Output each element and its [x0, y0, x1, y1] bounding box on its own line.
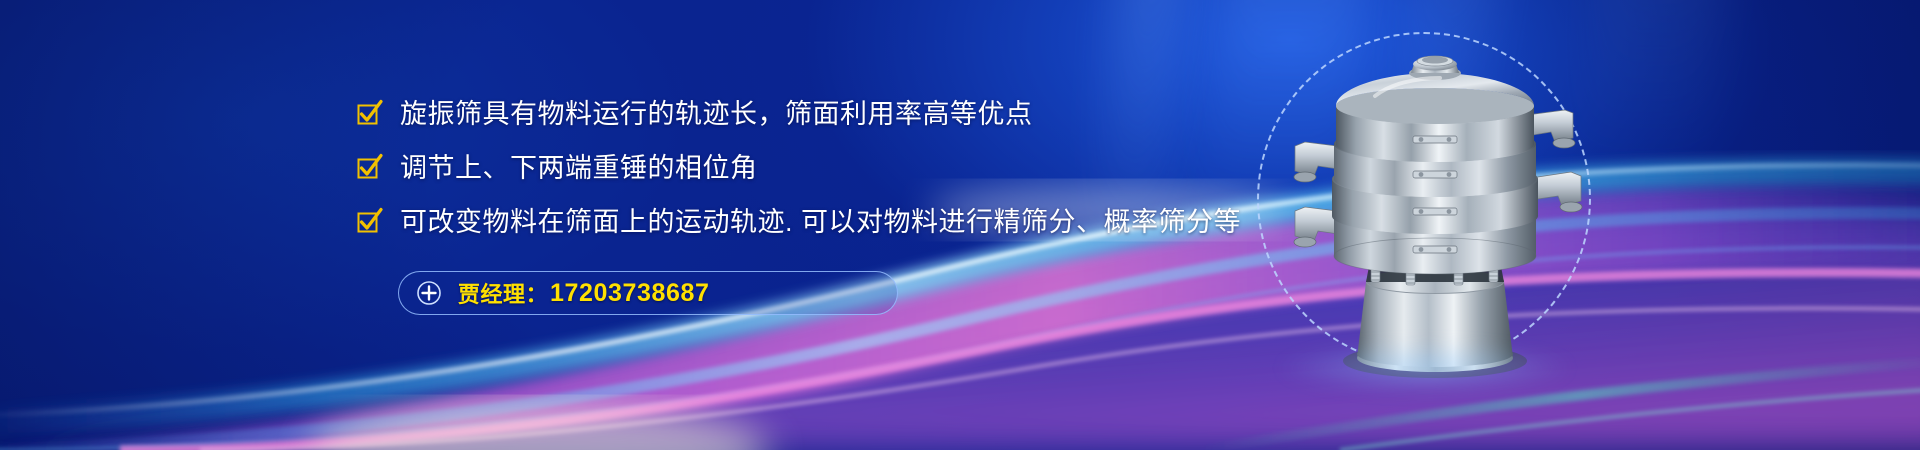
- checkbox-checked-icon: [355, 153, 383, 181]
- list-item: 可改变物料在筛面上的运动轨迹. 可以对物料进行精筛分、概率筛分等: [355, 208, 1255, 236]
- plus-circle-icon: [416, 280, 442, 306]
- list-item-label: 旋振筛具有物料运行的轨迹长，筛面利用率高等优点: [400, 101, 1033, 128]
- promo-banner: 旋振筛具有物料运行的轨迹长，筛面利用率高等优点 调节上、下两端重锤的相位角 可改…: [0, 0, 1920, 450]
- list-item-label: 调节上、下两端重锤的相位角: [400, 155, 758, 182]
- list-item: 调节上、下两端重锤的相位角: [355, 154, 1255, 182]
- list-item-label: 可改变物料在筛面上的运动轨迹. 可以对物料进行精筛分、概率筛分等: [400, 209, 1241, 236]
- list-item: 旋振筛具有物料运行的轨迹长，筛面利用率高等优点: [355, 100, 1255, 128]
- contact-button[interactable]: 贾经理： 17203738687: [398, 271, 898, 315]
- checkbox-checked-icon: [355, 99, 383, 127]
- contact-phone[interactable]: 17203738687: [550, 279, 710, 308]
- checkbox-checked-icon: [355, 207, 383, 235]
- product-image: [1235, 20, 1635, 400]
- contact-name: 贾经理：: [458, 277, 548, 309]
- product-glow: [1275, 342, 1575, 394]
- discharge-spout: [1531, 172, 1582, 212]
- feature-list: 旋振筛具有物料运行的轨迹长，筛面利用率高等优点 调节上、下两端重锤的相位角 可改…: [355, 100, 1255, 258]
